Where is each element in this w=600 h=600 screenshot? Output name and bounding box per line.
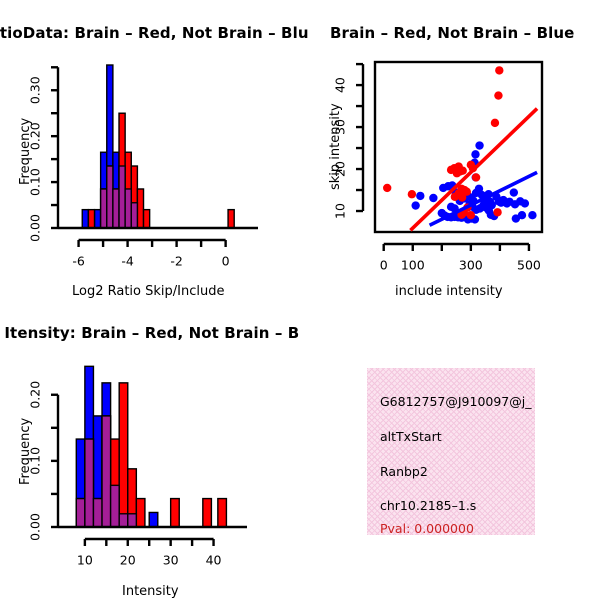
scatter-point-brain	[467, 211, 475, 219]
ratio-bars	[82, 65, 234, 228]
ratio-x-tick-label: -6	[72, 254, 85, 269]
scatter-point-brain	[383, 184, 391, 192]
intensity-bar-overlap	[76, 499, 85, 527]
scatter-y-tick-label: 10	[333, 203, 348, 219]
scatter-point-not-brain	[416, 192, 424, 200]
scatter-point-brain	[493, 208, 501, 216]
scatter-x-tick-label: 500	[517, 258, 541, 273]
ratio-histogram-xlabel: Log2 Ratio Skip/Include	[72, 284, 224, 299]
intensity-axes: 102030400.000.100.20	[28, 381, 248, 568]
intensity-bar-brain	[218, 499, 227, 527]
intensity-histogram-plot: 102030400.000.100.20	[0, 300, 300, 600]
panel-ratio-histogram: RatioData: Brain – Red, Not Brain – Blu …	[0, 0, 300, 300]
ratio-bar-overlap	[107, 166, 113, 228]
intensity-bar-overlap	[111, 485, 120, 527]
intensity-x-tick-label: 40	[206, 553, 222, 568]
scatter-point-not-brain	[475, 141, 483, 149]
intensity-y-tick-label: 0.00	[28, 513, 43, 541]
scatter-point-not-brain	[429, 194, 437, 202]
figure-canvas: RatioData: Brain – Red, Not Brain – Blu …	[0, 0, 600, 600]
intensity-x-tick-label: 20	[120, 553, 136, 568]
scatter-point-brain	[451, 193, 459, 201]
intensity-bar-brain	[171, 499, 180, 527]
scatter-point-brain	[472, 173, 480, 181]
scatter-point-not-brain	[521, 199, 529, 207]
ratio-y-tick-label: 0.00	[28, 214, 43, 242]
intensity-bar-overlap	[128, 514, 137, 527]
panel-info: G6812757@J910097@j_ altTxStart Ranbp2 ch…	[300, 300, 600, 600]
scatter-point-brain	[491, 119, 499, 127]
scatter-point-not-brain	[471, 150, 479, 158]
ratio-bar-not-brain	[82, 210, 88, 228]
ratio-x-tick-label: -2	[170, 254, 182, 269]
intensity-bar-overlap	[102, 416, 111, 527]
ratio-bar-overlap	[113, 189, 119, 228]
ratio-x-tick-label: 0	[222, 254, 230, 269]
intensity-bar-not-brain	[149, 512, 158, 527]
panel-scatter: Brain – Red, Not Brain – Blue 0100300500…	[300, 0, 600, 300]
scatter-point-brain	[494, 91, 502, 99]
intensity-bar-brain	[203, 499, 212, 527]
ratio-bar-brain	[88, 210, 94, 228]
ratio-bar-overlap	[125, 189, 131, 228]
intensity-histogram-ylabel: Frequency	[18, 418, 33, 485]
ratio-bar-brain	[144, 210, 150, 228]
scatter-point-brain	[408, 190, 416, 198]
scatter-content	[383, 66, 537, 230]
ratio-x-tick-label: -4	[121, 254, 134, 269]
info-line-pval: Pval: 0.000000	[380, 521, 474, 535]
scatter-plot: 010030050010203040	[300, 0, 600, 300]
scatter-point-brain	[458, 193, 466, 201]
scatter-ylabel: skip intensity	[328, 103, 343, 190]
scatter-point-not-brain	[510, 188, 518, 196]
intensity-bars	[76, 366, 226, 527]
scatter-xlabel: include intensity	[395, 284, 503, 299]
ratio-y-tick-label: 0.30	[28, 76, 43, 104]
scatter-point-not-brain	[528, 211, 536, 219]
intensity-bar-overlap	[85, 439, 94, 527]
scatter-point-brain	[454, 162, 462, 170]
scatter-point-not-brain	[512, 214, 520, 222]
intensity-y-tick-label: 0.20	[28, 381, 43, 409]
scatter-y-tick-label: 40	[333, 77, 348, 93]
ratio-axes: -6-4-200.000.100.200.30	[28, 67, 259, 268]
scatter-point-not-brain	[447, 203, 455, 211]
info-line-id: G6812757@J910097@j_	[380, 394, 531, 409]
scatter-axes: 010030050010203040	[333, 64, 541, 272]
ratio-bar-overlap	[119, 166, 125, 228]
intensity-bar-overlap	[119, 514, 128, 527]
info-line-gene: Ranbp2	[380, 464, 428, 479]
intensity-x-tick-label: 10	[77, 553, 93, 568]
ratio-bar-overlap	[101, 189, 107, 228]
intensity-bar-overlap	[93, 499, 102, 527]
scatter-x-tick-label: 100	[401, 258, 425, 273]
intensity-x-tick-label: 30	[163, 553, 179, 568]
ratio-bar-overlap	[131, 203, 137, 228]
intensity-bar-brain	[136, 499, 145, 527]
intensity-bar-brain	[119, 383, 128, 527]
ratio-bar-not-brain	[95, 210, 101, 228]
info-box: G6812757@J910097@j_ altTxStart Ranbp2 ch…	[367, 368, 535, 535]
ratio-bar-brain	[137, 189, 143, 228]
scatter-point-brain	[495, 66, 503, 74]
panel-intensity-histogram: ne Itensity: Brain – Red, Not Brain – B …	[0, 300, 300, 600]
scatter-x-tick-label: 0	[380, 258, 388, 273]
scatter-x-tick-label: 300	[459, 258, 483, 273]
ratio-bar-brain	[228, 210, 234, 228]
intensity-histogram-xlabel: Intensity	[122, 584, 179, 599]
ratio-histogram-plot: -6-4-200.000.100.200.30	[0, 0, 300, 300]
info-line-locus: chr10.2185–1.s	[380, 498, 476, 513]
ratio-histogram-ylabel: Frequency	[18, 118, 33, 185]
info-line-event-type: altTxStart	[380, 429, 442, 444]
scatter-point-not-brain	[411, 201, 419, 209]
